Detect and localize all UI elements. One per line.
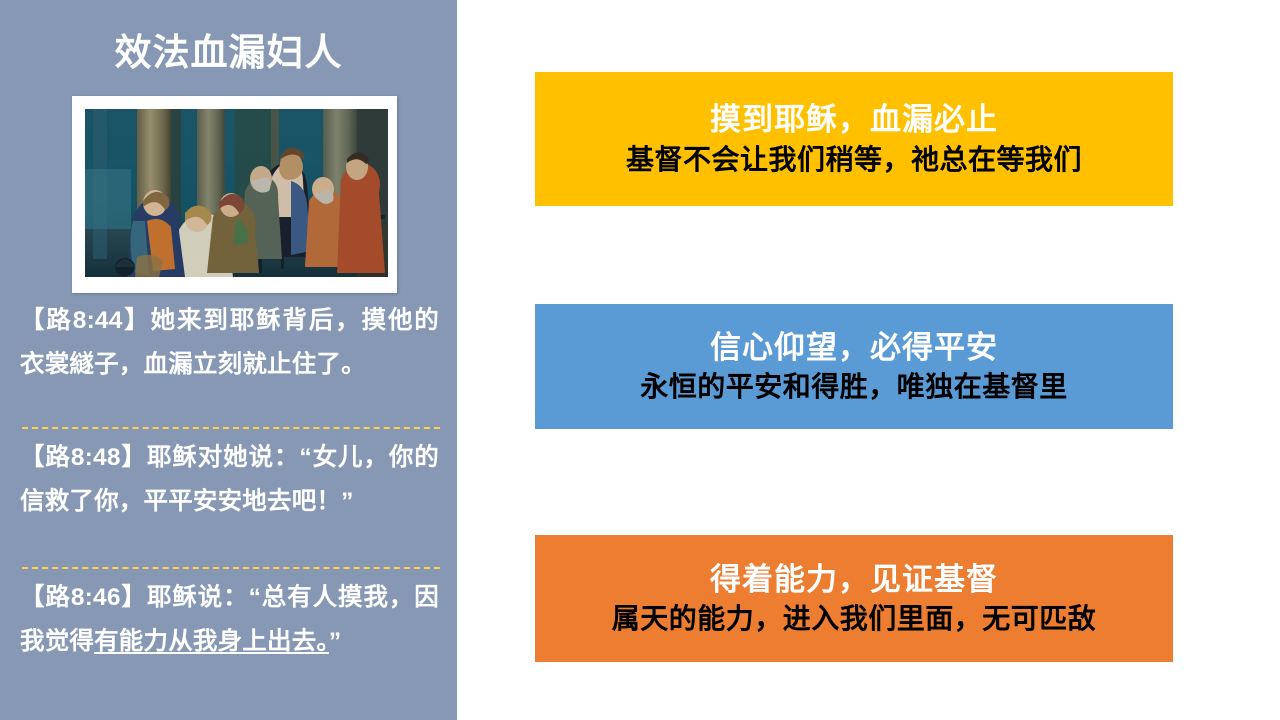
verse-reference: 【路8:44】 — [20, 307, 151, 334]
verse-text-underlined: 有能力从我身上出去。 — [94, 628, 329, 655]
panel-subtext: 基督不会让我们稍等，祂总在等我们 — [626, 143, 1082, 176]
panel-subtext: 永恒的平安和得胜，唯独在基督里 — [640, 370, 1068, 403]
presentation-slide: 效法血漏妇人 — [0, 0, 1280, 720]
painting-image — [85, 109, 388, 277]
verse-luke-8-48: 【路8:48】耶稣对她说：“女儿，你的信救了你，平平安安地去吧！” — [0, 427, 457, 566]
sidebar-panel: 效法血漏妇人 — [0, 0, 457, 720]
panel-faith-peace[interactable]: 信心仰望，必得平安 永恒的平安和得胜，唯独在基督里 — [535, 304, 1173, 429]
page-title: 效法血漏妇人 — [0, 32, 457, 75]
panel-heading: 摸到耶稣，血漏必止 — [710, 102, 998, 139]
verse-reference: 【路8:46】 — [20, 584, 147, 611]
verse-reference: 【路8:48】 — [20, 444, 147, 471]
verse-luke-8-44: 【路8:44】她来到耶稣背后，摸他的衣裳繸子，血漏立刻就止住了。 — [0, 299, 457, 427]
scripture-list: 【路8:44】她来到耶稣背后，摸他的衣裳繸子，血漏立刻就止住了。 【路8:48】… — [0, 299, 457, 716]
painting-woman-with-issue-of-blood-icon — [85, 109, 388, 277]
painting-frame — [72, 96, 397, 293]
panel-heading: 信心仰望，必得平安 — [710, 330, 998, 367]
panel-subtext: 属天的能力，进入我们里面，无可匹敌 — [612, 602, 1097, 635]
verse-text-tail: ” — [329, 628, 341, 655]
panel-touch-jesus[interactable]: 摸到耶稣，血漏必止 基督不会让我们稍等，祂总在等我们 — [535, 72, 1173, 206]
verse-luke-8-46: 【路8:46】耶稣说：“总有人摸我，因我觉得有能力从我身上出去。” — [0, 566, 457, 716]
panel-power-witness[interactable]: 得着能力，见证基督 属天的能力，进入我们里面，无可匹敌 — [535, 535, 1173, 662]
panel-heading: 得着能力，见证基督 — [710, 562, 998, 599]
